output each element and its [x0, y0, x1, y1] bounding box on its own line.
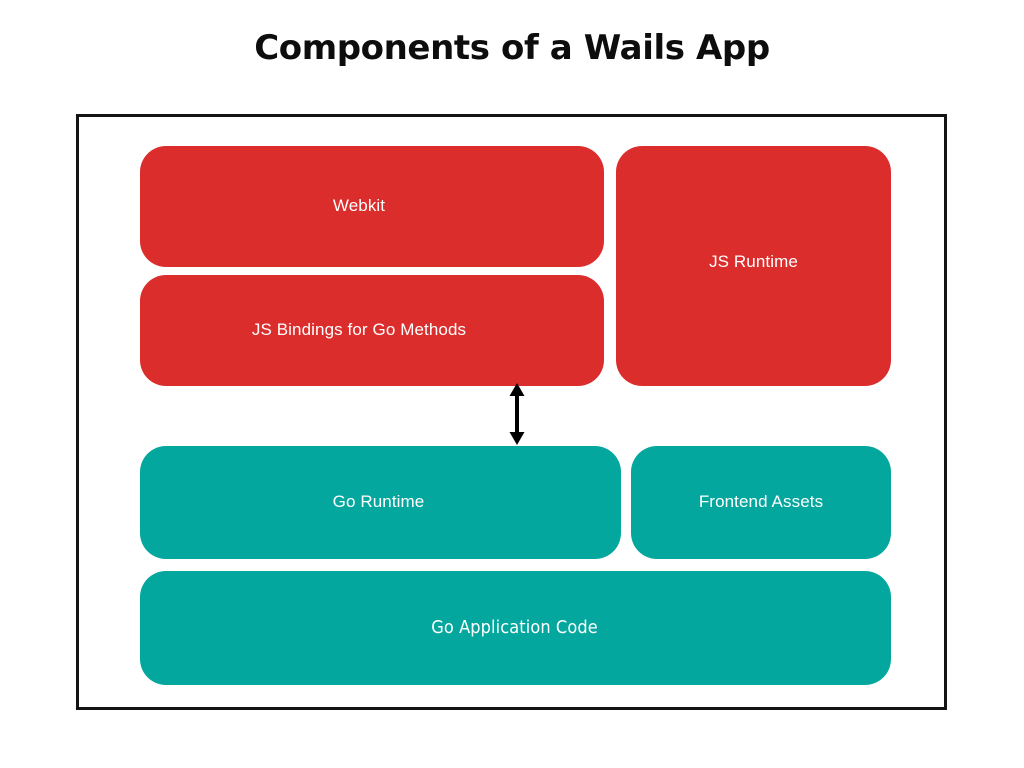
component-box-go-application-code[interactable]: Go Application Code — [140, 571, 891, 685]
component-box-js-runtime[interactable]: JS Runtime — [616, 146, 891, 386]
bidirectional-arrow-icon — [506, 383, 528, 445]
component-label-frontend-assets: Frontend Assets — [699, 492, 823, 512]
component-label-js-bindings: JS Bindings for Go Methods — [252, 320, 466, 340]
component-label-go-runtime: Go Runtime — [333, 492, 425, 512]
component-label-js-runtime: JS Runtime — [709, 252, 798, 272]
component-box-frontend-assets[interactable]: Frontend Assets — [631, 446, 891, 559]
component-label-webkit: Webkit — [333, 196, 385, 216]
component-label-go-application-code: Go Application Code — [431, 617, 598, 639]
component-box-js-bindings[interactable]: JS Bindings for Go Methods — [140, 275, 604, 386]
component-box-go-runtime[interactable]: Go Runtime — [140, 446, 621, 559]
diagram-frame: Webkit JS Bindings for Go Methods JS Run… — [76, 114, 947, 710]
page-title: Components of a Wails App — [0, 28, 1024, 68]
component-box-webkit[interactable]: Webkit — [140, 146, 604, 267]
